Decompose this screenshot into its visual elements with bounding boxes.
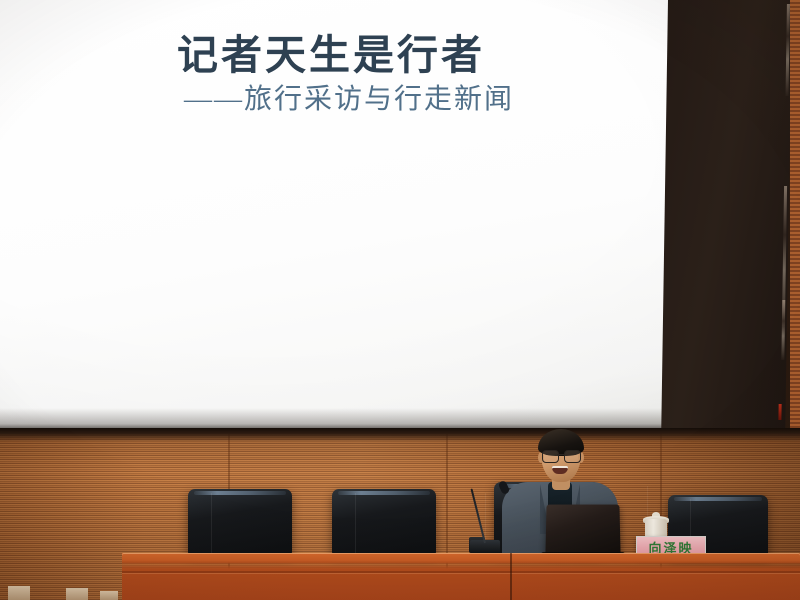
slide-text-block: 记者天生是行者 ——旅行采访与行走新闻 <box>0 34 672 116</box>
stage-step <box>100 591 118 600</box>
right-wood-strip <box>790 0 800 434</box>
desk-groove <box>122 571 800 573</box>
panel-glint <box>781 300 785 360</box>
red-indicator-light <box>778 404 781 420</box>
stage-step <box>66 588 88 600</box>
glasses-lens-right <box>564 450 581 463</box>
laptop <box>545 505 620 555</box>
conference-chair <box>188 489 292 555</box>
conference-chair <box>332 489 436 555</box>
glasses-icon <box>542 450 580 461</box>
screen-bottom-shadow <box>0 408 672 430</box>
wall-top-shadow <box>0 428 800 441</box>
conference-desk <box>122 553 800 600</box>
desk-top-lip <box>122 553 800 564</box>
stage-step <box>8 586 30 600</box>
glasses-bridge <box>557 454 564 455</box>
slide-title: 记者天生是行者 <box>0 34 672 77</box>
slide-subtitle: ——旅行采访与行走新闻 <box>26 85 672 116</box>
glasses-lens-left <box>542 450 559 463</box>
lecture-hall-photo: 记者天生是行者 ——旅行采访与行走新闻 <box>0 0 800 600</box>
projection-screen: 记者天生是行者 ——旅行采访与行走新闻 <box>0 0 672 430</box>
desk-seam <box>510 553 512 600</box>
right-wall-panel <box>661 0 792 434</box>
